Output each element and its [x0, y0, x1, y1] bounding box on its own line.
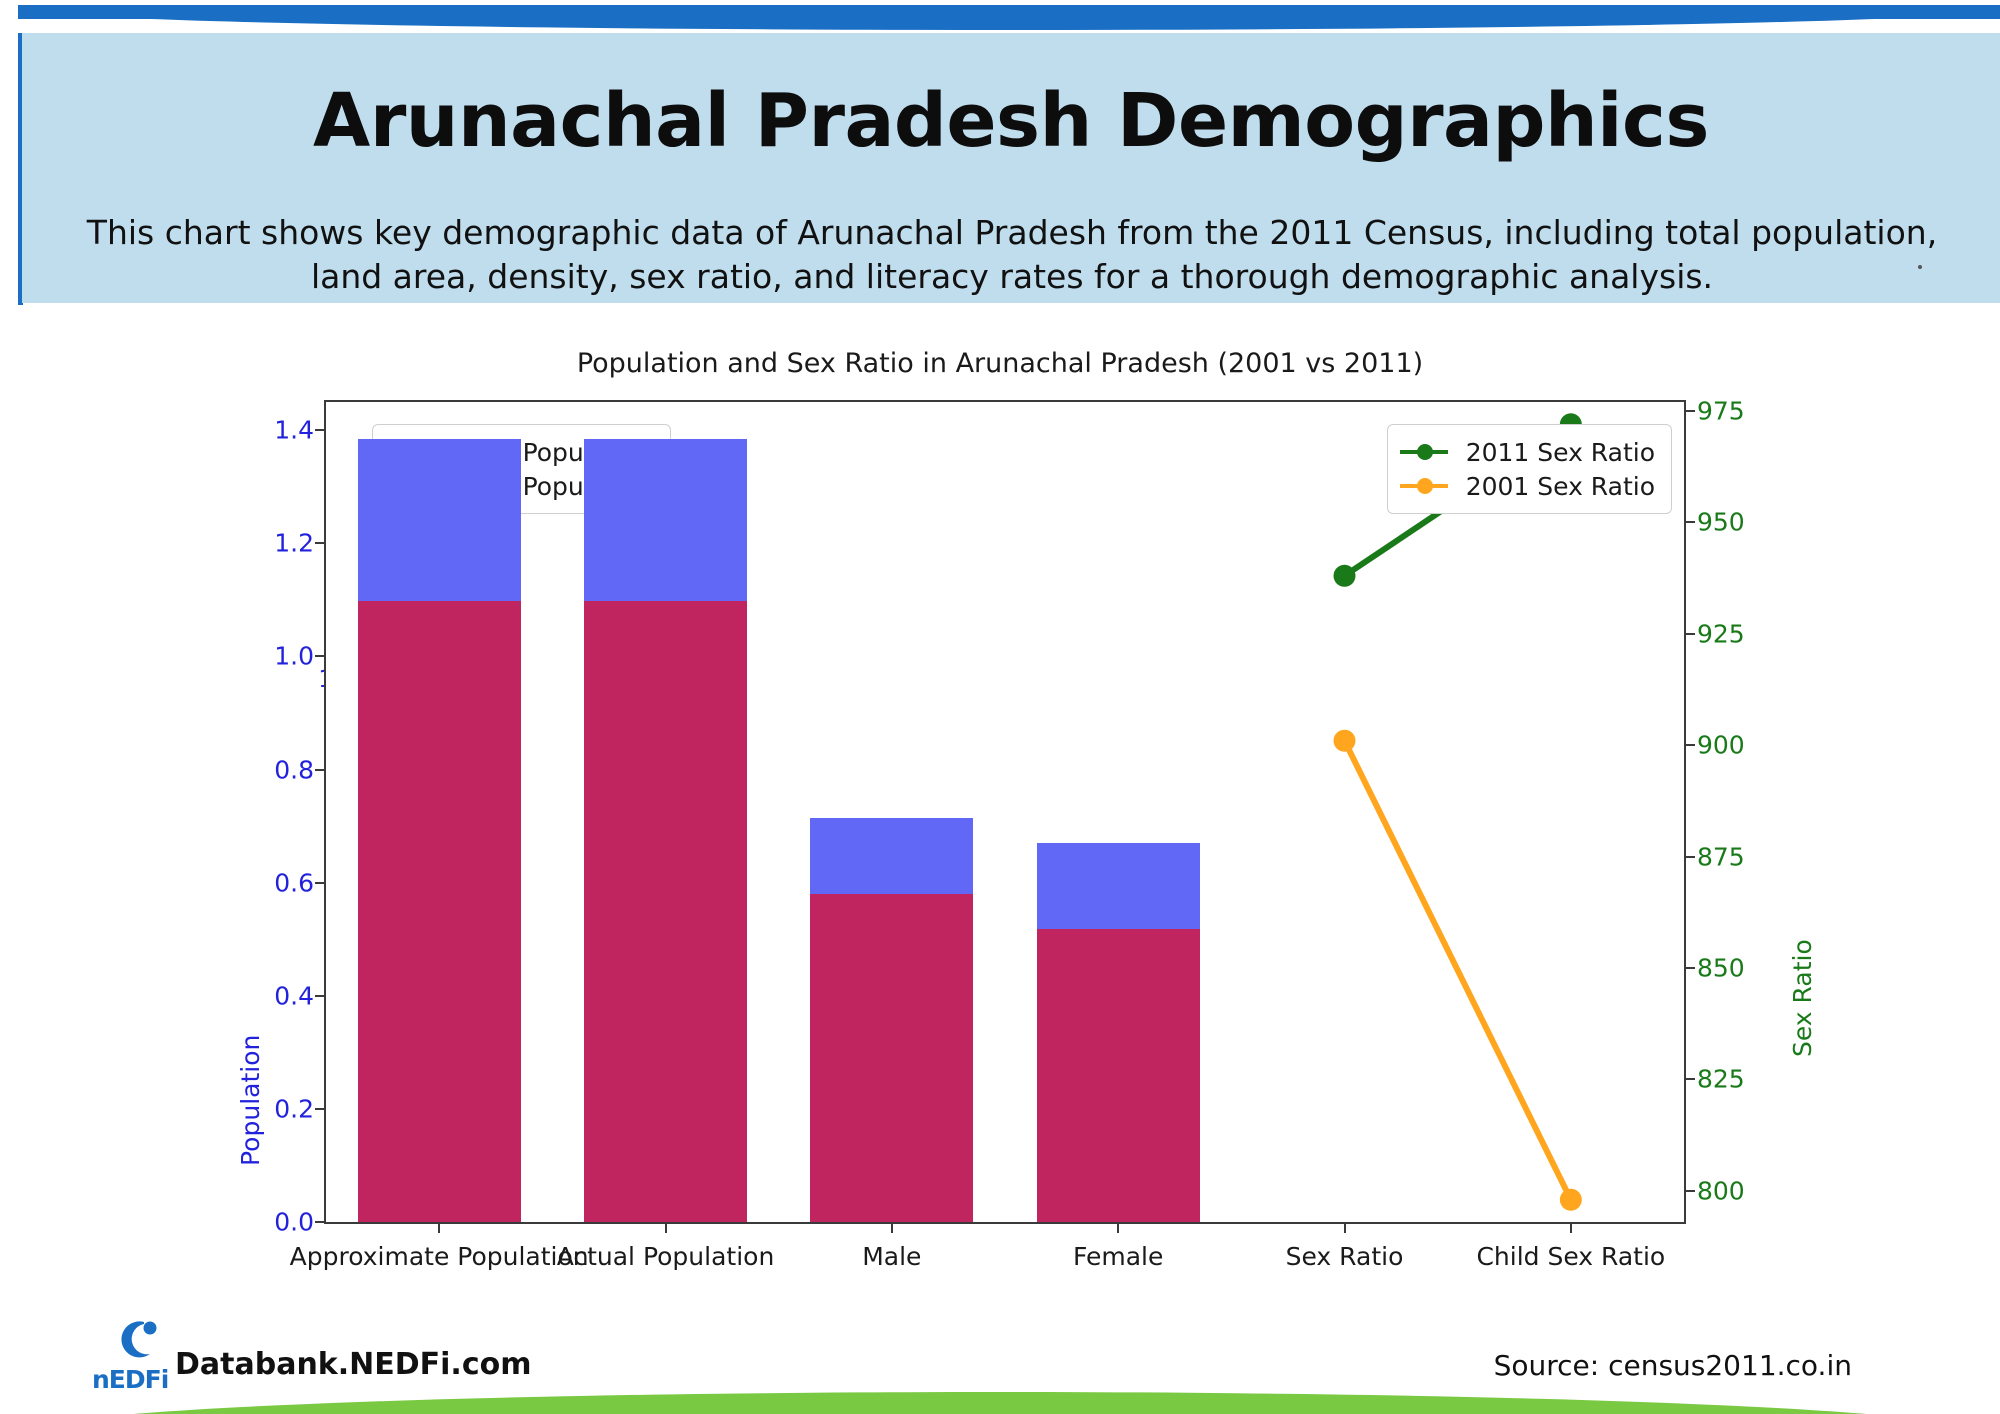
header-dot-marker — [1918, 265, 1922, 269]
x-axis-tick-label: Child Sex Ratio — [1476, 1242, 1665, 1271]
y-axis-left-tick-label: 1.0 — [274, 642, 314, 671]
chart-title: Population and Sex Ratio in Arunachal Pr… — [300, 348, 1700, 379]
y-axis-right-tick-mark — [1684, 633, 1695, 635]
nedfi-mark-icon — [114, 1319, 162, 1367]
y-axis-left-tick-label: 0.4 — [274, 981, 314, 1010]
bar-2001-population[interactable] — [810, 894, 973, 1222]
bar-2001-population[interactable] — [584, 601, 747, 1222]
y-axis-right-tick-label: 800 — [1697, 1176, 1745, 1205]
marker-2001-sex-ratio[interactable] — [1560, 1189, 1582, 1211]
marker-2011-sex-ratio[interactable] — [1334, 565, 1356, 587]
y-axis-right-tick-label: 925 — [1697, 619, 1745, 648]
line-series-layer — [326, 402, 1684, 1222]
line-2001-sex-ratio[interactable] — [1345, 741, 1571, 1200]
x-axis-tick-label: Female — [1073, 1242, 1163, 1271]
x-axis-tick-mark — [1117, 1222, 1119, 1233]
y-axis-left-tick-mark — [315, 995, 326, 997]
y-axis-right-tick-label: 975 — [1697, 396, 1745, 425]
y-axis-left-title: Population — [236, 1035, 265, 1166]
footer: nEDFi Databank.NEDFi.com Source: census2… — [0, 1305, 2000, 1414]
y-axis-left-tick-label: 0.0 — [274, 1208, 314, 1237]
bottom-decoration-swoosh — [0, 1384, 2000, 1414]
y-axis-left-tick-mark — [315, 769, 326, 771]
y-axis-right-tick-mark — [1684, 1078, 1695, 1080]
y-axis-left-tick-label: 0.8 — [274, 755, 314, 784]
y-axis-left-tick-mark — [315, 542, 326, 544]
y-axis-right-title: Sex Ratio — [1788, 939, 1817, 1057]
y-axis-left-tick-label: 0.2 — [274, 1094, 314, 1123]
nedfi-logo: nEDFi — [92, 1319, 180, 1391]
legend-label-2001-sex-ratio: 2001 Sex Ratio — [1466, 472, 1655, 501]
y-axis-right-tick-label: 875 — [1697, 842, 1745, 871]
x-axis-tick-mark — [438, 1222, 440, 1233]
chart-container: Population and Sex Ratio in Arunachal Pr… — [0, 305, 2000, 1305]
bar-2001-population[interactable] — [1037, 929, 1200, 1222]
x-axis-tick-mark — [1344, 1222, 1346, 1233]
plot-area: 2011 Population 2001 Population 2011 Sex… — [324, 400, 1686, 1224]
y-axis-right-tick-label: 850 — [1697, 953, 1745, 982]
y-axis-right-tick-mark — [1684, 521, 1695, 523]
y-axis-right-tick-mark — [1684, 967, 1695, 969]
x-axis-tick-label: Actual Population — [557, 1242, 775, 1271]
y-axis-left-tick-mark — [315, 1108, 326, 1110]
legend-label-2011-sex-ratio: 2011 Sex Ratio — [1466, 438, 1655, 467]
x-axis-tick-mark — [891, 1222, 893, 1233]
x-axis-tick-mark — [1570, 1222, 1572, 1233]
x-axis-tick-mark — [665, 1222, 667, 1233]
y-axis-right-tick-label: 900 — [1697, 731, 1745, 760]
x-axis-tick-label: Approximate Population — [290, 1242, 589, 1271]
source-label: Source: census2011.co.in — [1494, 1349, 1852, 1382]
x-axis-tick-label: Male — [862, 1242, 921, 1271]
y-axis-left-tick-label: 1.4 — [274, 416, 314, 445]
databank-label: Databank.NEDFi.com — [175, 1347, 531, 1382]
y-axis-left-tick-mark — [315, 882, 326, 884]
y-axis-left-tick-mark — [315, 655, 326, 657]
y-axis-left-tick-label: 1.2 — [274, 529, 314, 558]
y-axis-right-tick-mark — [1684, 744, 1695, 746]
page-title: Arunachal Pradesh Demographics — [22, 83, 2000, 161]
y-axis-right-tick-mark — [1684, 410, 1695, 412]
y-axis-right-tick-mark — [1684, 1190, 1695, 1192]
y-axis-left-tick-label: 0.6 — [274, 868, 314, 897]
legend-item-2001-sex-ratio[interactable]: 2001 Sex Ratio — [1400, 469, 1655, 503]
header-band: Arunachal Pradesh Demographics This char… — [22, 33, 2000, 303]
legend-line-2001-sex-ratio — [1400, 484, 1448, 488]
y-axis-right-tick-mark — [1684, 856, 1695, 858]
y-axis-left-tick-mark — [315, 1221, 326, 1223]
y-axis-right-tick-label: 950 — [1697, 508, 1745, 537]
legend-line-2011-sex-ratio — [1400, 450, 1448, 454]
y-axis-right-tick-label: 825 — [1697, 1065, 1745, 1094]
bar-2001-population[interactable] — [358, 601, 521, 1222]
y-axis-left-tick-mark — [315, 429, 326, 431]
page-subtitle: This chart shows key demographic data of… — [82, 211, 1942, 298]
marker-2001-sex-ratio[interactable] — [1334, 730, 1356, 752]
legend-sex-ratio: 2011 Sex Ratio 2001 Sex Ratio — [1387, 424, 1672, 514]
x-axis-tick-label: Sex Ratio — [1286, 1242, 1404, 1271]
legend-item-2011-sex-ratio[interactable]: 2011 Sex Ratio — [1400, 435, 1655, 469]
